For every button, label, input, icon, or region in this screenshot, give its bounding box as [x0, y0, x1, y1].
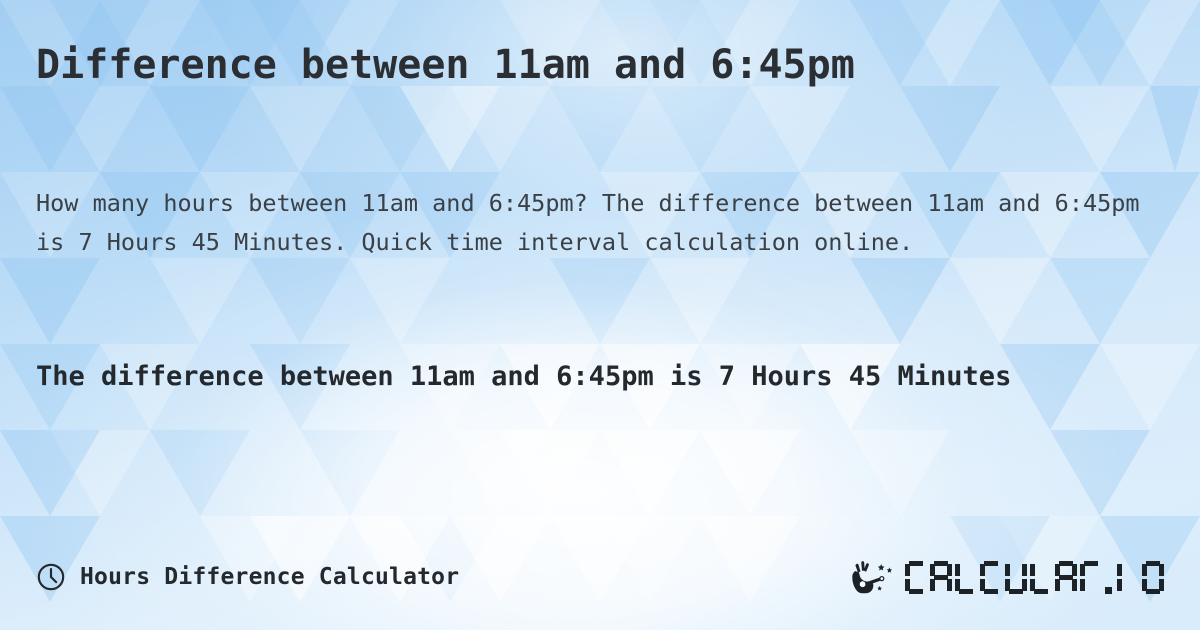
footer-bar: Hours Difference Calculator [36, 556, 1164, 598]
page-root: Difference between 11am and 6:45pm How m… [0, 0, 1200, 630]
footer-tool-link[interactable]: Hours Difference Calculator [36, 562, 459, 592]
site-logo[interactable] [851, 560, 1164, 594]
lcd-char-o1 [1142, 561, 1164, 594]
result-heading: The difference between 11am and 6:45pm i… [36, 354, 1091, 399]
site-logo-text [905, 561, 1164, 594]
lcd-char-dot [1105, 561, 1114, 594]
site-logo-lcd [905, 561, 1164, 594]
clock-icon [36, 562, 66, 592]
lcd-char-c1 [905, 561, 927, 594]
lcd-char-t1 [1080, 561, 1102, 594]
magic-wand-hand-icon [851, 560, 897, 594]
page-title: Difference between 11am and 6:45pm [36, 40, 855, 90]
lcd-char-c2 [980, 561, 1002, 594]
lcd-char-i1 [1117, 561, 1139, 594]
lcd-char-a1 [930, 561, 952, 594]
intro-paragraph: How many hours between 11am and 6:45pm? … [36, 184, 1141, 262]
lcd-char-l1 [955, 561, 977, 594]
content-area: Difference between 11am and 6:45pm How m… [0, 0, 1200, 630]
lcd-char-l2 [1030, 561, 1052, 594]
footer-tool-label: Hours Difference Calculator [80, 564, 459, 590]
lcd-char-u1 [1005, 561, 1027, 594]
lcd-char-a2 [1055, 561, 1077, 594]
